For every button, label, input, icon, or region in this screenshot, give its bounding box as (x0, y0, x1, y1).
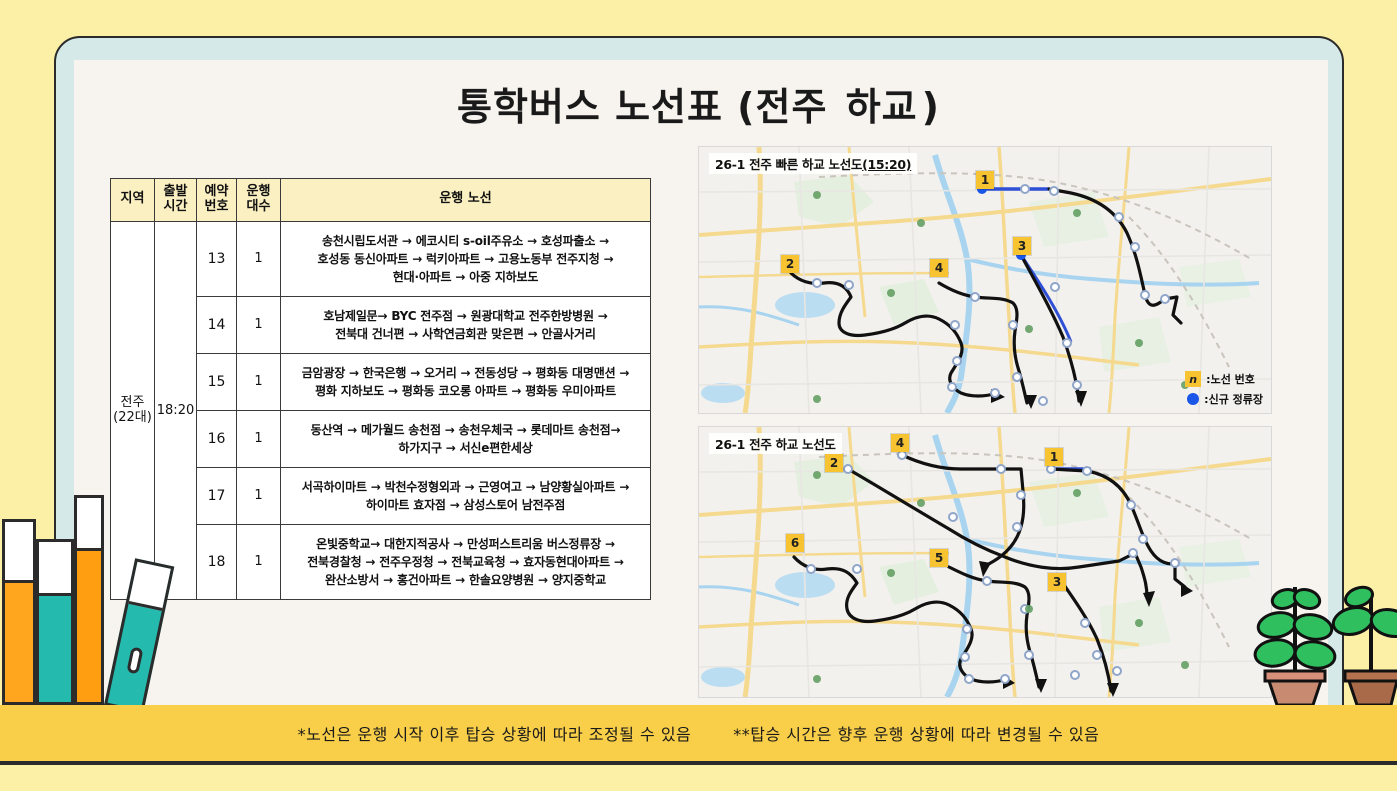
cell-route: 송천시립도서관 → 에코시티 s-oil주유소 → 호성파출소 →호성동 동신아… (281, 221, 651, 296)
header-vehicle-line2: 대수 (239, 200, 278, 215)
cell-reservation-no: 17 (197, 467, 237, 524)
map-bottom-canvas (699, 427, 1271, 697)
table-row: 전주(22대)18:20131송천시립도서관 → 에코시티 s-oil주유소 →… (111, 221, 651, 296)
route-line: 전북대 건너편 → 사학연금회관 맞은편 → 안골사거리 (287, 325, 644, 343)
plants-svg (1247, 565, 1397, 705)
cell-vehicle-count: 1 (237, 467, 281, 524)
header-vehicle-count: 운행 대수 (237, 179, 281, 222)
map-bottom-marker-5-label: 5 (935, 551, 943, 565)
map-bottom-marker-4-label: 4 (896, 436, 904, 450)
cell-depart-time: 18:20 (155, 221, 197, 599)
cell-route: 호남제일문→ BYC 전주점 → 원광대학교 전주한방병원 →전북대 건너편 →… (281, 296, 651, 353)
map-top-title-main: 26-1 전주 빠른 하교 노선도 (715, 157, 862, 172)
route-line: 호성동 동신아파트 → 럭키아파트 → 고용노동부 전주지청 → (287, 250, 644, 268)
binder-cap (129, 562, 171, 611)
cell-reservation-no: 13 (197, 221, 237, 296)
route-line: 동산역 → 메가월드 송천점 → 송천우체국 → 롯데마트 송천점→ (287, 421, 644, 439)
cell-route: 동산역 → 메가월드 송천점 → 송천우체국 → 롯데마트 송천점→하가지구 →… (281, 410, 651, 467)
header-region-label: 지역 (121, 191, 145, 206)
cell-reservation-no: 16 (197, 410, 237, 467)
region-name: 전주 (112, 395, 153, 411)
map-legend: n :노선 번호 :신규 정류장 (1185, 367, 1263, 407)
plant-right (1330, 584, 1397, 705)
book-cap (5, 522, 33, 583)
legend-new-stop: :신규 정류장 (1185, 391, 1263, 407)
header-region: 지역 (111, 179, 155, 222)
legend-new-stop-label: :신규 정류장 (1204, 391, 1263, 407)
header-vehicle-line1: 운행 (239, 185, 278, 200)
route-line: 하이마트 효자점 → 삼성스토어 남전주점 (287, 496, 644, 514)
legend-route-number: n :노선 번호 (1185, 371, 1263, 387)
cell-reservation-no: 18 (197, 524, 237, 599)
map-top-marker-4[interactable]: 4 (930, 259, 948, 277)
map-bottom-marker-5[interactable]: 5 (930, 549, 948, 567)
book-orange-2 (74, 495, 104, 705)
book-cap (77, 498, 101, 551)
book-teal-1 (36, 539, 74, 705)
map-bottom-marker-1-label: 1 (1050, 450, 1058, 464)
new-stop-dot-icon (1187, 393, 1199, 405)
cell-route: 서곡하이마트 → 박천수정형외과 → 근영여고 → 남양황실아파트 →하이마트 … (281, 467, 651, 524)
header-depart-time: 출발 시간 (155, 179, 197, 222)
footer-note-1: *노선은 운행 시작 이후 탑승 상황에 따라 조정될 수 있음 (298, 721, 692, 745)
header-reservation-line2: 번호 (199, 200, 234, 215)
header-reservation-line1: 예약 (199, 185, 234, 200)
header-route-label: 운행 노선 (439, 191, 491, 206)
footer-note-2: **탑승 시간은 향후 운행 상황에 따라 변경될 수 있음 (733, 721, 1099, 745)
table-header-row: 지역 출발 시간 예약 번호 운행 대수 운행 노선 (111, 179, 651, 222)
legend-route-number-label: :노선 번호 (1206, 371, 1255, 387)
map-bottom-title-main: 26-1 전주 하교 노선도 (715, 437, 836, 452)
route-map-dismissal[interactable]: 26-1 전주 하교 노선도 1 2 3 4 5 6 (698, 426, 1272, 698)
decorative-books (0, 475, 150, 705)
route-table-wrapper: 지역 출발 시간 예약 번호 운행 대수 운행 노선 전주(22대)18:201… (110, 178, 650, 600)
header-route: 운행 노선 (281, 179, 651, 222)
map-top-marker-2[interactable]: 2 (781, 255, 799, 273)
plant-left (1253, 586, 1336, 705)
map-top-marker-3[interactable]: 3 (1013, 237, 1031, 255)
cell-route: 금암광장 → 한국은행 → 오거리 → 전동성당 → 평화동 대명맨션 →평화 … (281, 353, 651, 410)
cell-route: 온빛중학교→ 대한지적공사 → 만성퍼스트리움 버스정류장 →전북경찰청 → 전… (281, 524, 651, 599)
cell-vehicle-count: 1 (237, 296, 281, 353)
route-map-fast-dismissal[interactable]: 26-1 전주 빠른 하교 노선도(15:20) 1 2 3 4 n :노선 번… (698, 146, 1272, 414)
route-line: 평화 지하보도 → 평화동 코오롱 아파트 → 평화동 우미아파트 (287, 382, 644, 400)
map-top-title: 26-1 전주 빠른 하교 노선도(15:20) (709, 153, 917, 174)
header-depart-time-line2: 시간 (157, 200, 194, 215)
cell-reservation-no: 14 (197, 296, 237, 353)
route-line: 호남제일문→ BYC 전주점 → 원광대학교 전주한방병원 → (287, 307, 644, 325)
decorative-plants (1247, 565, 1397, 705)
region-bus-count: (22대) (112, 410, 153, 426)
book-cap (39, 542, 71, 596)
binder-handle-icon (126, 646, 143, 674)
cell-vehicle-count: 1 (237, 221, 281, 296)
map-top-marker-1-label: 1 (981, 173, 989, 187)
map-bottom-marker-6[interactable]: 6 (786, 534, 804, 552)
route-line: 하가지구 → 서신e편한세상 (287, 439, 644, 457)
map-bottom-marker-4[interactable]: 4 (891, 434, 909, 452)
route-line: 금암광장 → 한국은행 → 오거리 → 전동성당 → 평화동 대명맨션 → (287, 364, 644, 382)
book-orange-1 (2, 519, 36, 705)
map-bottom-marker-2-label: 2 (830, 456, 838, 470)
cell-vehicle-count: 1 (237, 410, 281, 467)
map-bottom-title: 26-1 전주 하교 노선도 (709, 433, 842, 454)
table-body: 전주(22대)18:20131송천시립도서관 → 에코시티 s-oil주유소 →… (111, 221, 651, 599)
map-top-marker-3-label: 3 (1018, 239, 1026, 253)
cell-vehicle-count: 1 (237, 353, 281, 410)
map-bottom-marker-1[interactable]: 1 (1045, 448, 1063, 466)
map-bottom-marker-6-label: 6 (791, 536, 799, 550)
route-line: 완산소방서 → 홍건아파트 → 한솔요양병원 → 양지중학교 (287, 571, 644, 589)
map-top-marker-4-label: 4 (935, 261, 943, 275)
map-top-title-time: (15:20) (862, 157, 911, 172)
map-bottom-marker-3[interactable]: 3 (1048, 573, 1066, 591)
route-line: 전북경찰청 → 전주우정청 → 전북교육청 → 효자동현대아파트 → (287, 553, 644, 571)
map-top-marker-2-label: 2 (786, 257, 794, 271)
footer-notes-bar: *노선은 운행 시작 이후 탑승 상황에 따라 조정될 수 있음 **탑승 시간… (0, 705, 1397, 765)
header-depart-time-line1: 출발 (157, 185, 194, 200)
route-line: 서곡하이마트 → 박천수정형외과 → 근영여고 → 남양황실아파트 → (287, 478, 644, 496)
map-bottom-marker-2[interactable]: 2 (825, 454, 843, 472)
route-line: 온빛중학교→ 대한지적공사 → 만성퍼스트리움 버스정류장 → (287, 535, 644, 553)
header-reservation-no: 예약 번호 (197, 179, 237, 222)
legend-route-number-icon: n (1185, 371, 1201, 387)
map-top-marker-1[interactable]: 1 (976, 171, 994, 189)
map-bottom-marker-3-label: 3 (1053, 575, 1061, 589)
route-line: 현대·아파트 → 아중 지하보도 (287, 268, 644, 286)
route-table: 지역 출발 시간 예약 번호 운행 대수 운행 노선 전주(22대)18:201… (110, 178, 651, 600)
route-line: 송천시립도서관 → 에코시티 s-oil주유소 → 호성파출소 → (287, 232, 644, 250)
cell-reservation-no: 15 (197, 353, 237, 410)
cell-vehicle-count: 1 (237, 524, 281, 599)
